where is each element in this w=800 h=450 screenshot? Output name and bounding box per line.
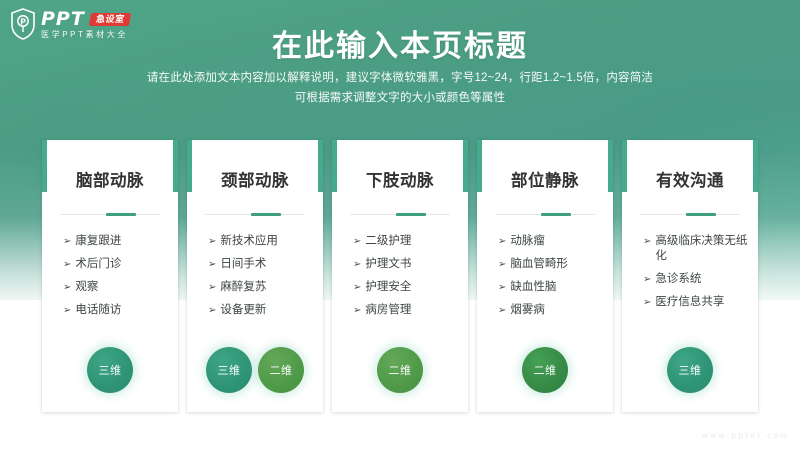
card-item-list: ➢二级护理➢护理文书➢护理安全➢病房管理: [332, 234, 468, 318]
bullet-arrow-icon: ➢: [498, 257, 506, 272]
card-item-list: ➢动脉瘤➢脑血管畸形➢缺血性脑➢烟雾病: [477, 234, 613, 318]
badge-group: 三维二维: [187, 347, 323, 393]
list-item-label: 病房管理: [365, 303, 458, 318]
divider-accent: [106, 213, 136, 216]
bullet-arrow-icon: ➢: [498, 280, 506, 295]
card-item-list: ➢康复跟进➢术后门诊➢观察➢电话随访: [42, 234, 178, 318]
title-divider: [350, 213, 451, 216]
bullet-arrow-icon: ➢: [498, 303, 506, 318]
title-divider: [205, 213, 306, 216]
list-item-label: 高级临床决策无纸化: [655, 234, 748, 264]
list-item[interactable]: ➢医疗信息共享: [643, 295, 748, 310]
bullet-arrow-icon: ➢: [63, 280, 71, 295]
bullet-arrow-icon: ➢: [353, 257, 361, 272]
status-badge[interactable]: 三维: [87, 347, 133, 393]
card-row: 脑部动脉➢康复跟进➢术后门诊➢观察➢电话随访三维颈部动脉➢新技术应用➢日间手术➢…: [42, 140, 758, 412]
list-item[interactable]: ➢观察: [63, 280, 168, 295]
badge-group: 三维: [622, 347, 758, 393]
card-item-list: ➢高级临床决策无纸化➢急诊系统➢医疗信息共享: [622, 234, 758, 310]
card-item-list: ➢新技术应用➢日间手术➢麻醉复苏➢设备更新: [187, 234, 323, 318]
list-item-label: 术后门诊: [75, 257, 168, 272]
status-badge[interactable]: 二维: [258, 347, 304, 393]
list-item[interactable]: ➢二级护理: [353, 234, 458, 249]
card-3[interactable]: 下肢动脉➢二级护理➢护理文书➢护理安全➢病房管理二维: [332, 140, 468, 412]
list-item-label: 麻醉复苏: [220, 280, 313, 295]
bullet-arrow-icon: ➢: [208, 234, 216, 249]
list-item-label: 二级护理: [365, 234, 458, 249]
list-item[interactable]: ➢麻醉复苏: [208, 280, 313, 295]
badge-group: 二维: [332, 347, 468, 393]
bullet-arrow-icon: ➢: [63, 303, 71, 318]
page-title: 在此输入本页标题: [0, 21, 800, 65]
watermark: www.ppter.com: [702, 431, 790, 440]
card-4[interactable]: 部位静脉➢动脉瘤➢脑血管畸形➢缺血性脑➢烟雾病二维: [477, 140, 613, 412]
bullet-arrow-icon: ➢: [643, 295, 651, 310]
list-item-label: 日间手术: [220, 257, 313, 272]
list-item[interactable]: ➢护理安全: [353, 280, 458, 295]
list-item[interactable]: ➢康复跟进: [63, 234, 168, 249]
list-item[interactable]: ➢术后门诊: [63, 257, 168, 272]
bullet-arrow-icon: ➢: [498, 234, 506, 249]
divider-accent: [251, 213, 281, 216]
title-divider: [640, 213, 741, 216]
card-5[interactable]: 有效沟通➢高级临床决策无纸化➢急诊系统➢医疗信息共享三维: [622, 140, 758, 412]
bullet-arrow-icon: ➢: [208, 257, 216, 272]
bullet-arrow-icon: ➢: [63, 234, 71, 249]
divider-accent: [541, 213, 571, 216]
list-item[interactable]: ➢日间手术: [208, 257, 313, 272]
list-item-label: 动脉瘤: [510, 234, 603, 249]
card-1[interactable]: 脑部动脉➢康复跟进➢术后门诊➢观察➢电话随访三维: [42, 140, 178, 412]
slide-canvas: P PPT 急设室 医学PPT素材大全 在此输入本页标题 请在此处添加文本内容加…: [0, 0, 800, 450]
list-item[interactable]: ➢电话随访: [63, 303, 168, 318]
status-badge[interactable]: 三维: [667, 347, 713, 393]
list-item[interactable]: ➢动脉瘤: [498, 234, 603, 249]
status-badge[interactable]: 二维: [522, 347, 568, 393]
list-item-label: 设备更新: [220, 303, 313, 318]
list-item[interactable]: ➢病房管理: [353, 303, 458, 318]
divider-accent: [396, 213, 426, 216]
list-item-label: 脑血管畸形: [510, 257, 603, 272]
title-divider: [60, 213, 161, 216]
divider-accent: [686, 213, 716, 216]
badge-group: 二维: [477, 347, 613, 393]
bullet-arrow-icon: ➢: [353, 280, 361, 295]
status-badge[interactable]: 二维: [377, 347, 423, 393]
title-divider: [495, 213, 596, 216]
card-title: 颈部动脉: [221, 173, 289, 190]
bullet-arrow-icon: ➢: [208, 303, 216, 318]
card-title: 下肢动脉: [366, 173, 434, 190]
bullet-arrow-icon: ➢: [643, 272, 651, 287]
list-item-label: 烟雾病: [510, 303, 603, 318]
bullet-arrow-icon: ➢: [353, 303, 361, 318]
list-item[interactable]: ➢脑血管畸形: [498, 257, 603, 272]
badge-group: 三维: [42, 347, 178, 393]
list-item-label: 护理文书: [365, 257, 458, 272]
list-item[interactable]: ➢烟雾病: [498, 303, 603, 318]
list-item[interactable]: ➢设备更新: [208, 303, 313, 318]
bullet-arrow-icon: ➢: [353, 234, 361, 249]
list-item[interactable]: ➢急诊系统: [643, 272, 748, 287]
status-badge[interactable]: 三维: [206, 347, 252, 393]
card-2[interactable]: 颈部动脉➢新技术应用➢日间手术➢麻醉复苏➢设备更新三维二维: [187, 140, 323, 412]
list-item-label: 医疗信息共享: [655, 295, 748, 310]
page-subtitle: 请在此处添加文本内容加以解释说明，建议字体微软雅黑，字号12~24，行距1.2~…: [0, 68, 800, 108]
bullet-arrow-icon: ➢: [643, 234, 651, 249]
list-item[interactable]: ➢高级临床决策无纸化: [643, 234, 748, 264]
list-item-label: 急诊系统: [655, 272, 748, 287]
list-item-label: 观察: [75, 280, 168, 295]
subtitle-line-2: 可根据需求调整文字的大小或颜色等属性: [0, 88, 800, 108]
list-item-label: 电话随访: [75, 303, 168, 318]
list-item-label: 康复跟进: [75, 234, 168, 249]
bullet-arrow-icon: ➢: [63, 257, 71, 272]
bullet-arrow-icon: ➢: [208, 280, 216, 295]
list-item[interactable]: ➢缺血性脑: [498, 280, 603, 295]
list-item[interactable]: ➢护理文书: [353, 257, 458, 272]
card-title: 脑部动脉: [76, 173, 144, 190]
card-title: 有效沟通: [656, 173, 724, 190]
list-item-label: 缺血性脑: [510, 280, 603, 295]
list-item-label: 护理安全: [365, 280, 458, 295]
subtitle-line-1: 请在此处添加文本内容加以解释说明，建议字体微软雅黑，字号12~24，行距1.2~…: [0, 68, 800, 88]
card-title: 部位静脉: [511, 173, 579, 190]
list-item[interactable]: ➢新技术应用: [208, 234, 313, 249]
list-item-label: 新技术应用: [220, 234, 313, 249]
